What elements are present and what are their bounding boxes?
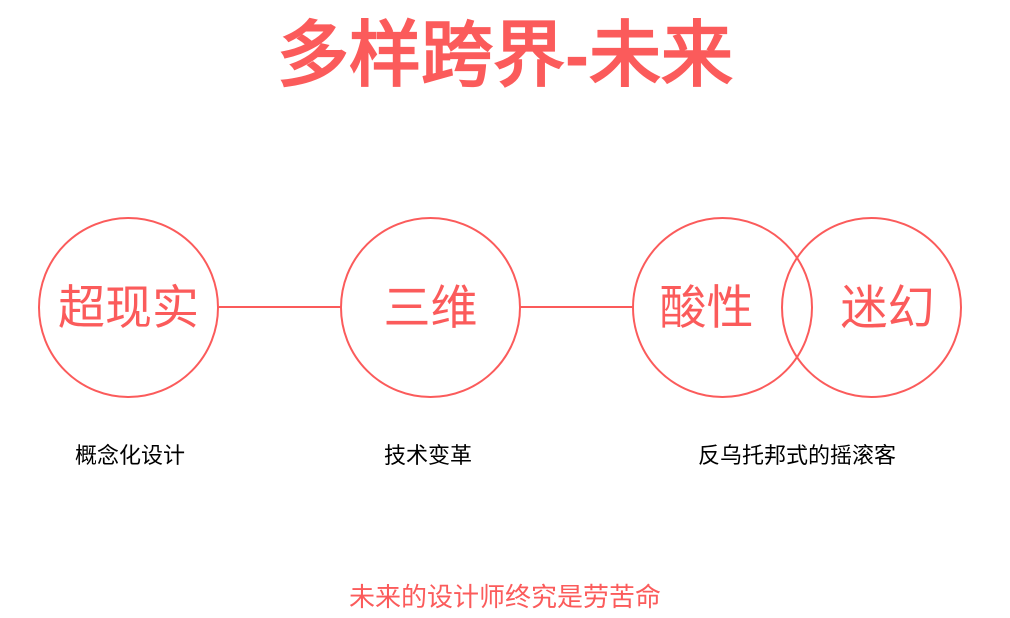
diagram-node-label: 超现实	[58, 284, 199, 331]
concept-flow-diagram: 超现实 三维 酸性 迷幻 概念化设计 技术变革 反乌托邦式的摇滚客	[0, 0, 1010, 618]
diagram-node-label: 迷幻	[841, 284, 935, 331]
diagram-node-label: 三维	[384, 284, 478, 331]
diagram-node-caption-1: 概念化设计	[0, 441, 260, 471]
connector-line-1	[219, 306, 341, 308]
diagram-node-three-dimensional[interactable]: 三维	[340, 217, 521, 398]
diagram-node-acid[interactable]: 酸性	[632, 217, 813, 398]
diagram-node-label: 酸性	[660, 284, 754, 331]
diagram-node-surreal[interactable]: 超现实	[38, 217, 219, 398]
diagram-node-caption-3: 反乌托邦式的摇滚客	[637, 441, 957, 471]
footer-note: 未来的设计师终究是劳苦命	[0, 580, 1010, 614]
connector-line-2	[520, 306, 633, 308]
slide-canvas: 多样跨界-未来 超现实 三维 酸性 迷幻 概念化设计 技术变革 反乌托邦式的摇滚…	[0, 0, 1010, 618]
diagram-node-caption-2: 技术变革	[298, 441, 558, 471]
